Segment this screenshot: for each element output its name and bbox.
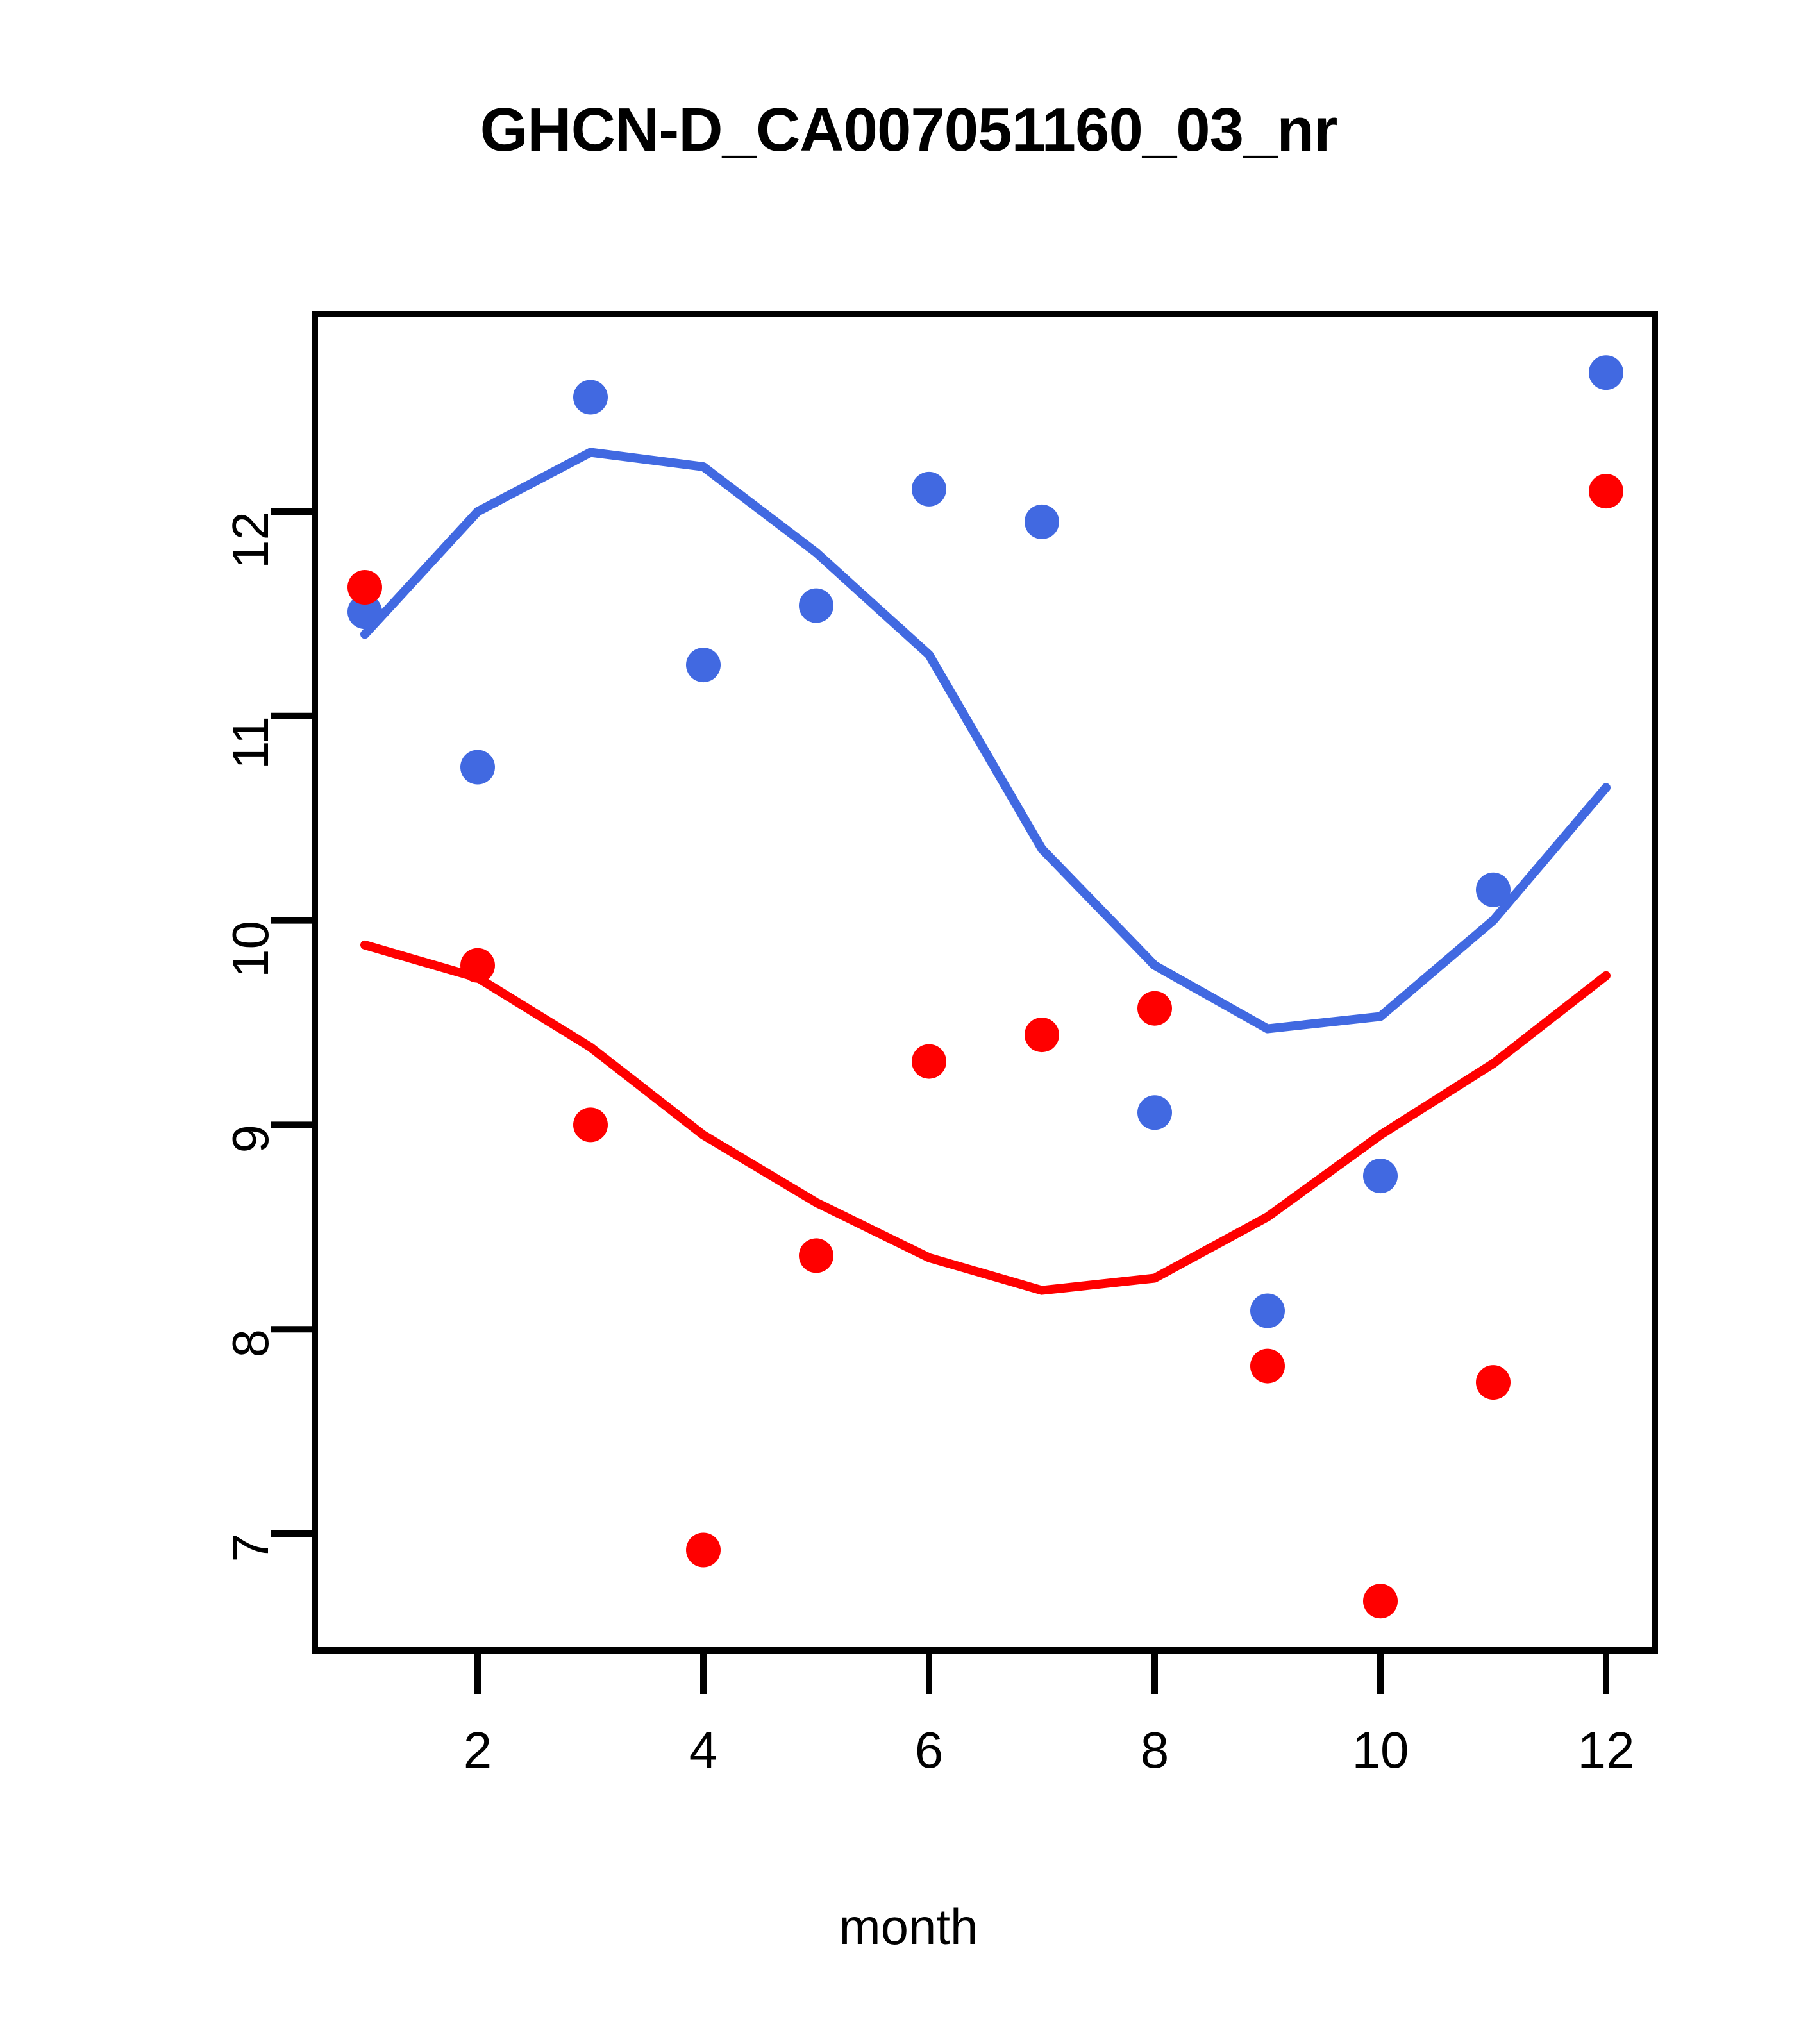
data-point-red-points xyxy=(460,948,495,983)
data-point-red-points xyxy=(1589,474,1623,508)
x-tick-label: 12 xyxy=(1578,1721,1635,1780)
series-points xyxy=(347,355,1623,1618)
data-point-red-points xyxy=(1137,991,1172,1026)
data-point-blue-points xyxy=(1476,873,1511,907)
data-point-blue-points xyxy=(573,380,608,415)
x-axis-label: month xyxy=(0,1898,1817,1956)
series-line-red-line xyxy=(365,945,1606,1291)
data-point-red-points xyxy=(1025,1018,1059,1052)
data-point-red-points xyxy=(686,1533,721,1568)
y-tick-label: 7 xyxy=(221,1534,280,1562)
data-point-red-points xyxy=(1250,1349,1285,1384)
x-tick-label: 8 xyxy=(1141,1721,1169,1780)
series-lines xyxy=(365,453,1606,1291)
data-point-blue-points xyxy=(1589,355,1623,390)
x-tick-label: 4 xyxy=(689,1721,718,1780)
data-point-red-points xyxy=(1363,1584,1398,1618)
chart-figure: GHCN-D_CA007051160_03_nr 24681012 789101… xyxy=(0,0,1817,2044)
plot-area-border xyxy=(315,314,1655,1650)
data-point-blue-points xyxy=(686,648,721,682)
data-point-red-points xyxy=(1476,1365,1511,1400)
data-point-red-points xyxy=(799,1238,833,1273)
plot-canvas xyxy=(0,0,1817,2044)
data-point-blue-points xyxy=(1250,1294,1285,1328)
y-tick-label: 11 xyxy=(221,716,280,769)
x-tick-label: 2 xyxy=(464,1721,492,1780)
y-tick-label: 8 xyxy=(221,1329,280,1358)
y-tick-label: 9 xyxy=(221,1125,280,1153)
data-point-blue-points xyxy=(912,472,946,507)
y-tick-label: 10 xyxy=(221,921,280,978)
x-axis-ticks xyxy=(478,1650,1606,1694)
y-tick-label: 12 xyxy=(221,512,280,569)
data-point-blue-points xyxy=(1137,1095,1172,1130)
data-point-red-points xyxy=(573,1107,608,1142)
data-point-blue-points xyxy=(460,750,495,785)
data-point-red-points xyxy=(912,1044,946,1079)
data-point-blue-points xyxy=(799,589,833,623)
x-tick-label: 6 xyxy=(915,1721,944,1780)
y-axis-ticks xyxy=(271,512,315,1534)
x-tick-label: 10 xyxy=(1352,1721,1409,1780)
series-line-blue-line xyxy=(365,453,1606,1029)
data-point-red-points xyxy=(347,570,382,605)
data-point-blue-points xyxy=(1363,1159,1398,1193)
data-point-blue-points xyxy=(1025,505,1059,539)
